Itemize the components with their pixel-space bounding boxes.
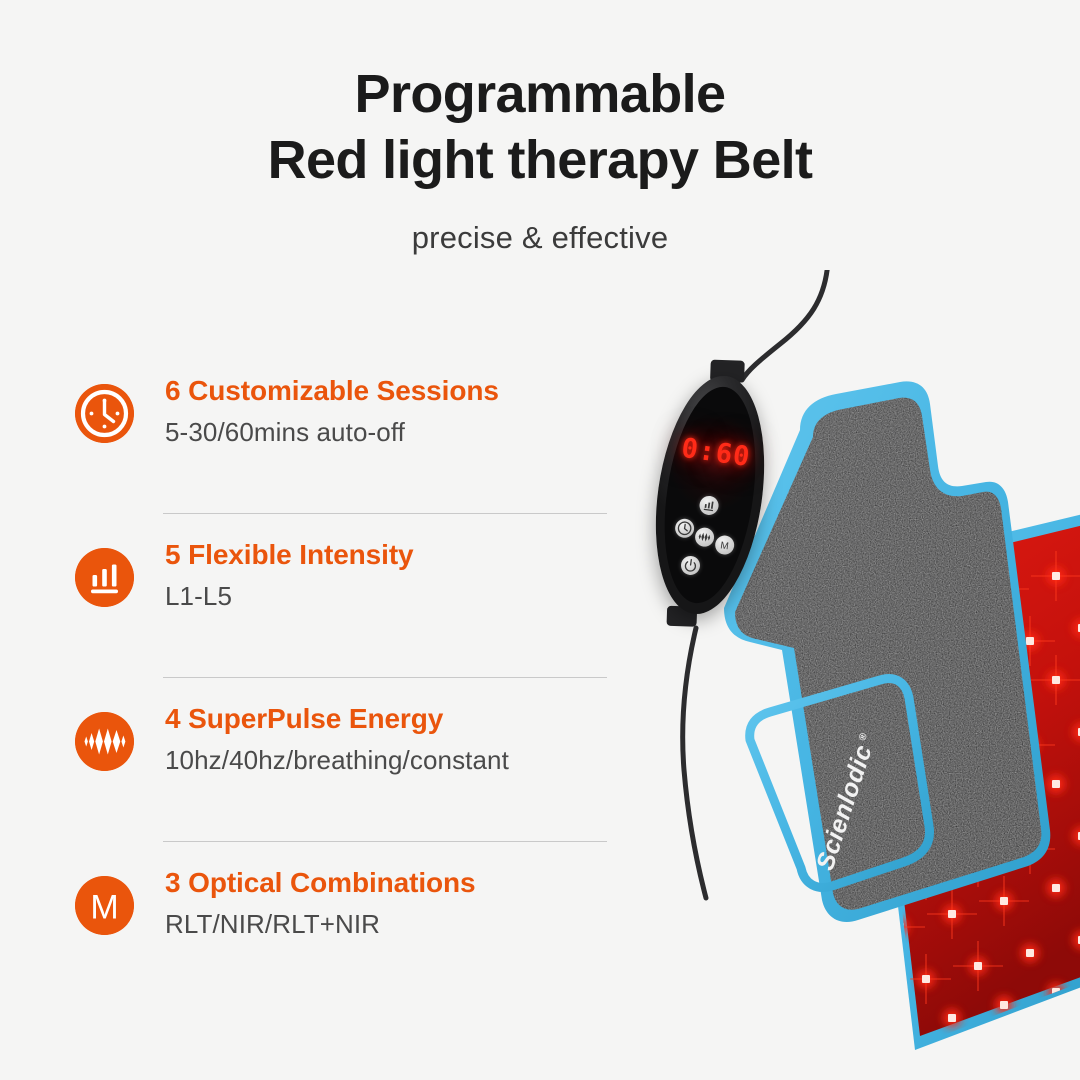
intensity-button[interactable] [698, 495, 719, 516]
feature-divider [163, 677, 607, 678]
product-image: Scienlodic ® 0:60 [600, 270, 1080, 1080]
feature-list: 6 Customizable Sessions 5-30/60mins auto… [66, 362, 626, 974]
power-button[interactable] [680, 555, 701, 576]
page-header: Programmable Red light therapy Belt prec… [0, 62, 1080, 256]
feature-subtitle: 5-30/60mins auto-off [165, 416, 625, 449]
feature-text-superpulse: 4 SuperPulse Energy 10hz/40hz/breathing/… [165, 702, 625, 776]
feature-subtitle: 10hz/40hz/breathing/constant [165, 744, 625, 777]
feature-text-intensity: 5 Flexible Intensity L1-L5 [165, 538, 625, 612]
mode-m-icon: M [75, 876, 134, 935]
feature-divider [163, 841, 607, 842]
bar-chart-icon [75, 548, 134, 607]
svg-text:M: M [90, 889, 118, 927]
page-title-line-1: Programmable [0, 62, 1080, 128]
feature-item-optical: M 3 Optical Combinations RLT/NIR/RLT+NIR [66, 854, 626, 974]
feature-title: 3 Optical Combinations [165, 866, 625, 900]
feature-divider [163, 513, 607, 514]
belt-body: Scienlodic ® [724, 381, 1050, 922]
mode-m-icon: M [714, 534, 735, 555]
feature-title: 4 SuperPulse Energy [165, 702, 625, 736]
feature-title: 6 Customizable Sessions [165, 374, 625, 408]
feature-item-superpulse: 4 SuperPulse Energy 10hz/40hz/breathing/… [66, 690, 626, 854]
feature-item-sessions: 6 Customizable Sessions 5-30/60mins auto… [66, 362, 626, 526]
power-icon [680, 555, 701, 576]
feature-subtitle: RLT/NIR/RLT+NIR [165, 908, 625, 941]
pulse-wave-icon [75, 712, 134, 771]
pulse-wave-icon [694, 526, 715, 547]
clock-icon [674, 518, 695, 539]
feature-text-optical: 3 Optical Combinations RLT/NIR/RLT+NIR [165, 866, 625, 940]
mode-button[interactable]: M [714, 534, 735, 555]
pulse-button[interactable] [694, 526, 715, 547]
power-cable-lower [683, 628, 706, 898]
timer-button[interactable] [674, 518, 695, 539]
feature-title: 5 Flexible Intensity [165, 538, 625, 572]
bar-chart-icon [698, 495, 719, 516]
clock-icon [75, 384, 134, 443]
feature-text-sessions: 6 Customizable Sessions 5-30/60mins auto… [165, 374, 625, 448]
power-cable [742, 270, 828, 380]
page-subtitle: precise & effective [0, 220, 1080, 256]
feature-subtitle: L1-L5 [165, 580, 625, 613]
svg-text:M: M [720, 540, 730, 552]
promo-page: { "header": { "title_line1": "Programmab… [0, 0, 1080, 1080]
page-title-line-2: Red light therapy Belt [0, 128, 1080, 194]
feature-item-intensity: 5 Flexible Intensity L1-L5 [66, 526, 626, 690]
